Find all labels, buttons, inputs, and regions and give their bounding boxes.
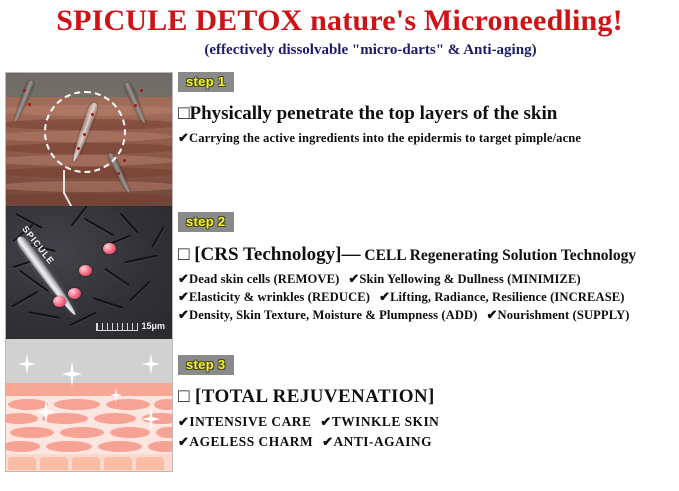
bullet-text: Skin Yellowing & Dullness (MINIMIZE) xyxy=(359,272,580,286)
check-icon: ✔ xyxy=(322,434,333,449)
sem-micrograph-image: SPICULE 15μm xyxy=(6,206,172,339)
checkbox-glyph: □ xyxy=(178,244,189,265)
scale-bar-ruler xyxy=(96,323,138,331)
check-icon: ✔ xyxy=(379,289,390,304)
skin-cross-section-image xyxy=(6,73,172,206)
step-2-bullets: ✔Dead skin cells (REMOVE)✔Skin Yellowing… xyxy=(178,270,636,324)
bullet-text: Carrying the active ingredients into the… xyxy=(189,131,581,145)
check-icon: ✔ xyxy=(178,289,189,304)
check-icon: ✔ xyxy=(178,130,189,145)
step-2-badge: step 2 xyxy=(178,212,234,232)
rejuvenated-skin-image xyxy=(6,339,172,471)
scale-bar-unit: μm xyxy=(151,321,165,331)
step-3-badge: step 3 xyxy=(178,355,234,375)
step-1-badge: step 1 xyxy=(178,72,234,92)
active-ingredient-bead xyxy=(68,288,81,299)
bullet-text: Dead skin cells (REMOVE) xyxy=(189,272,339,286)
magnifier-circle xyxy=(44,91,126,173)
step-2-block: step 2 □ [CRS Technology]— CELL Regenera… xyxy=(178,212,636,324)
scale-bar: 15μm xyxy=(96,322,165,331)
step-3-bullets: ✔INTENSIVE CARE✔TWINKLE SKIN ✔AGELESS CH… xyxy=(178,412,439,452)
step-1-block: step 1 □Physically penetrate the top lay… xyxy=(178,72,581,147)
image-column: SPICULE 15μm xyxy=(5,72,173,472)
step-2-heading-text: [CRS Technology]— xyxy=(194,244,360,265)
check-icon: ✔ xyxy=(178,307,189,322)
scale-bar-value: 15 xyxy=(141,321,151,331)
active-ingredient-bead xyxy=(53,296,66,307)
step-2-heading: □ [CRS Technology]— CELL Regenerating So… xyxy=(178,244,636,266)
check-icon: ✔ xyxy=(487,307,498,322)
step-2-heading-tail: CELL Regenerating Solution Technology xyxy=(361,247,637,264)
leader-line xyxy=(63,170,65,194)
active-ingredient-bead xyxy=(79,265,92,276)
checkbox-glyph: □ xyxy=(178,386,190,407)
step-3-heading-text: [TOTAL REJUVENATION] xyxy=(195,386,435,407)
checkbox-glyph: □ xyxy=(178,103,189,124)
bullet-text: Nourishment (SUPPLY) xyxy=(498,308,630,322)
bullet-row: ✔AGELESS CHARM✔ANTI-AGAING xyxy=(178,432,439,452)
bullet-row: ✔INTENSIVE CARE✔TWINKLE SKIN xyxy=(178,412,439,432)
bullet-row: ✔Density, Skin Texture, Moisture & Plump… xyxy=(178,306,636,324)
check-icon: ✔ xyxy=(178,434,189,449)
bullet-text: Elasticity & wrinkles (REDUCE) xyxy=(189,290,370,304)
active-ingredient-bead xyxy=(103,243,116,254)
step-3-block: step 3 □ [TOTAL REJUVENATION] ✔INTENSIVE… xyxy=(178,355,439,452)
bullet-text: INTENSIVE CARE xyxy=(189,414,311,429)
check-icon: ✔ xyxy=(178,271,189,286)
bullet-text: ANTI-AGAING xyxy=(334,434,433,449)
bullet-text: AGELESS CHARM xyxy=(189,434,313,449)
bullet-row: ✔Dead skin cells (REMOVE)✔Skin Yellowing… xyxy=(178,270,636,288)
check-icon: ✔ xyxy=(320,414,331,429)
page-title: SPICULE DETOX nature's Microneedling! xyxy=(0,4,679,38)
bullet-text: Lifting, Radiance, Resilience (INCREASE) xyxy=(390,290,625,304)
step-1-heading: □Physically penetrate the top layers of … xyxy=(178,103,581,125)
step-3-heading: □ [TOTAL REJUVENATION] xyxy=(178,386,439,408)
check-icon: ✔ xyxy=(348,271,359,286)
page-subtitle: (effectively dissolvable "micro-darts" &… xyxy=(0,42,679,59)
bullet-row: ✔Elasticity & wrinkles (REDUCE)✔Lifting,… xyxy=(178,288,636,306)
step-1-bullets: ✔Carrying the active ingredients into th… xyxy=(178,129,581,147)
step-1-heading-text: Physically penetrate the top layers of t… xyxy=(189,103,557,124)
bullet-row: ✔Carrying the active ingredients into th… xyxy=(178,129,581,147)
check-icon: ✔ xyxy=(178,414,189,429)
bullet-text: TWINKLE SKIN xyxy=(332,414,440,429)
poster-root: SPICULE DETOX nature's Microneedling! (e… xyxy=(0,0,679,491)
bullet-text: Density, Skin Texture, Moisture & Plumpn… xyxy=(189,308,478,322)
